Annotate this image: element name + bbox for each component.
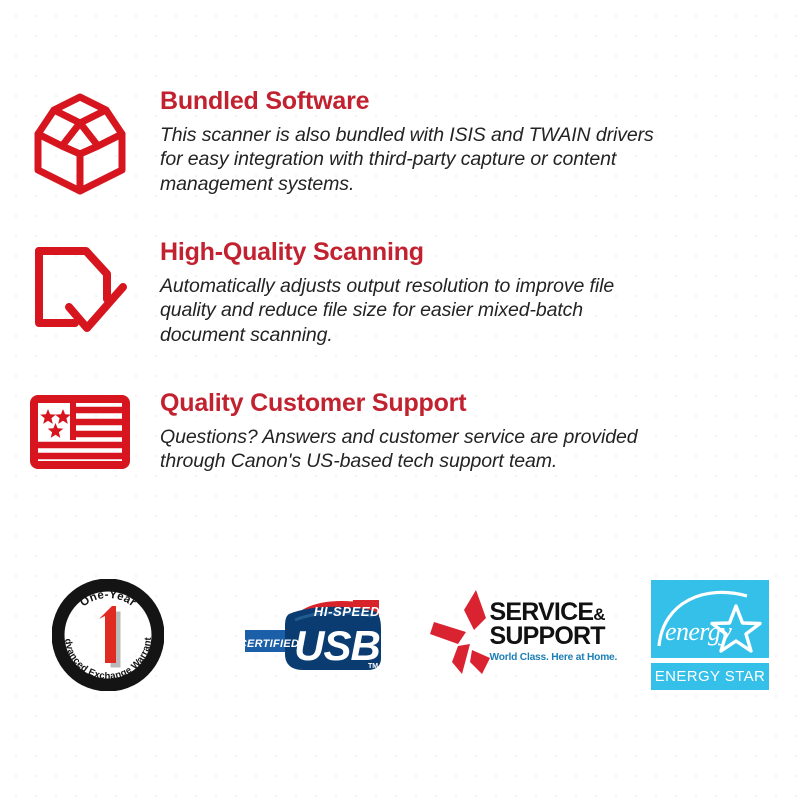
feature-infographic-page: Bundled Software This scanner is also bu… — [0, 0, 800, 800]
service-star-icon — [428, 588, 498, 683]
usb-certified-text: CERTIFIED — [243, 638, 299, 650]
feature-icon-wrapper — [0, 88, 160, 201]
open-box-icon — [24, 92, 136, 201]
service-ampersand: & — [593, 605, 604, 624]
badge-cell-service-support: SERVICE& SUPPORT World Class. Here at Ho… — [410, 570, 620, 700]
usb-trademark-text: TM — [367, 663, 377, 670]
hi-speed-certified-usb-icon: HI-SPEED CERTIFIED USB TM — [243, 596, 383, 674]
feature-description: This scanner is also bundled with ISIS a… — [160, 123, 670, 198]
energy-star-label: ENERGY STAR — [655, 668, 766, 685]
energy-star-logo: energy ENERGY STAR — [651, 580, 769, 690]
feature-icon-wrapper — [0, 390, 160, 475]
feature-text-block: Quality Customer Support Questions? Answ… — [160, 390, 680, 474]
energy-star-label-band: ENERGY STAR — [651, 663, 769, 690]
service-line1: SERVICE& — [490, 600, 605, 624]
badge-cell-energy-star: energy ENERGY STAR — [620, 570, 800, 700]
feature-title: Quality Customer Support — [160, 390, 670, 418]
service-support-logo: SERVICE& SUPPORT World Class. Here at Ho… — [428, 588, 603, 683]
usb-hi-speed-text: HI-SPEED — [313, 604, 379, 619]
service-tagline: World Class. Here at Home. — [490, 652, 605, 663]
badge-cell-usb: HI-SPEED CERTIFIED USB TM — [215, 570, 410, 700]
feature-text-block: Bundled Software This scanner is also bu… — [160, 88, 680, 197]
service-line2: SUPPORT — [490, 624, 605, 648]
badge-cell-warranty: One-Year Advanced Exchange Warranty — [0, 570, 215, 700]
certification-badge-row: One-Year Advanced Exchange Warranty — [0, 570, 800, 700]
feature-icon-wrapper — [0, 239, 160, 352]
feature-item-high-quality-scanning: High-Quality Scanning Automatically adju… — [0, 239, 800, 352]
document-check-icon — [31, 243, 129, 352]
feature-list: Bundled Software This scanner is also bu… — [0, 88, 800, 513]
feature-description: Questions? Answers and customer service … — [160, 425, 670, 475]
usb-wordmark-text: USB — [294, 622, 380, 669]
feature-item-bundled-software: Bundled Software This scanner is also bu… — [0, 88, 800, 201]
feature-title: Bundled Software — [160, 88, 670, 116]
feature-text-block: High-Quality Scanning Automatically adju… — [160, 239, 680, 348]
feature-title: High-Quality Scanning — [160, 239, 670, 267]
feature-item-quality-customer-support: Quality Customer Support Questions? Answ… — [0, 390, 800, 475]
feature-description: Automatically adjusts output resolution … — [160, 274, 670, 349]
service-support-text-block: SERVICE& SUPPORT World Class. Here at Ho… — [490, 600, 605, 663]
us-flag-icon — [29, 394, 131, 475]
warranty-seal-icon: One-Year Advanced Exchange Warranty — [52, 579, 164, 691]
energy-star-emblem: energy — [651, 580, 769, 658]
energy-script-text: energy — [665, 617, 732, 646]
